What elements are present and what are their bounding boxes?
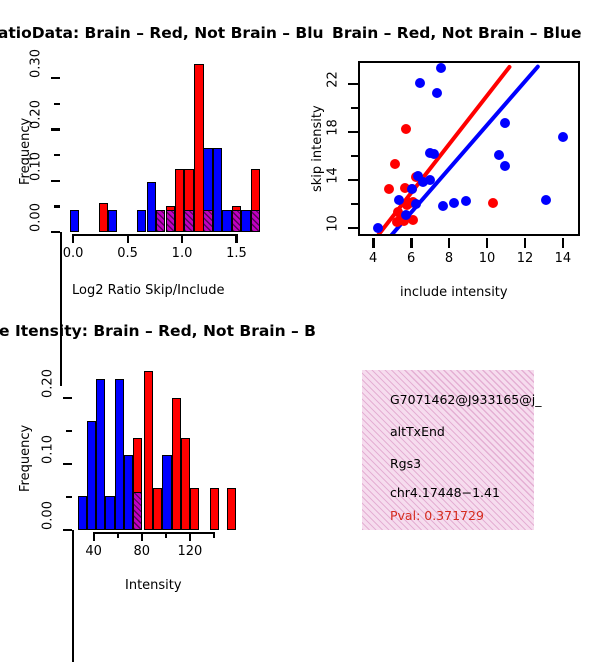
histogram-bar bbox=[241, 210, 251, 232]
y-axis-tick-label: 0.20 bbox=[41, 363, 56, 403]
scatter-point bbox=[384, 184, 394, 194]
y-axis-tick bbox=[351, 107, 358, 109]
y-axis-tick-label: 0.30 bbox=[29, 43, 44, 83]
x-axis-tick bbox=[213, 532, 215, 538]
histogram-bar bbox=[124, 455, 133, 530]
y-axis-tick bbox=[66, 430, 72, 432]
histogram-bar bbox=[203, 210, 213, 232]
scatter-point bbox=[394, 195, 404, 205]
ratio-histogram-plot-area bbox=[60, 60, 267, 232]
y-axis-tick bbox=[54, 103, 60, 105]
scatter-point bbox=[373, 223, 383, 233]
gene-info-box: G7071462@J933165@j_ altTxEnd Rgs3 chr4.1… bbox=[362, 370, 534, 530]
x-axis-line bbox=[73, 234, 236, 236]
scatter-point bbox=[415, 78, 425, 88]
scatter-point bbox=[500, 118, 510, 128]
histogram-bar bbox=[137, 210, 147, 232]
histogram-bar bbox=[172, 398, 181, 530]
x-axis-tick-label: 0.0 bbox=[48, 246, 98, 261]
scatter-plot-frame bbox=[358, 61, 580, 236]
gene-histogram-xlabel: Intensity bbox=[125, 578, 182, 593]
histogram-bar bbox=[156, 210, 166, 232]
scatter-point bbox=[407, 184, 417, 194]
histogram-bar bbox=[232, 210, 242, 232]
y-axis-tick-label: 0.00 bbox=[41, 496, 56, 536]
histogram-bar bbox=[133, 492, 142, 530]
histogram-bar bbox=[222, 210, 232, 232]
x-axis-tick bbox=[127, 234, 129, 243]
y-axis-tick bbox=[348, 83, 358, 85]
y-axis-tick bbox=[66, 496, 72, 498]
x-axis-tick bbox=[93, 532, 95, 541]
scatter-point bbox=[401, 210, 411, 220]
scatter-point bbox=[390, 159, 400, 169]
histogram-bar bbox=[70, 210, 80, 232]
histogram-bar bbox=[175, 169, 185, 232]
histogram-bar bbox=[190, 488, 199, 530]
y-axis-tick bbox=[51, 77, 60, 79]
info-line-event: altTxEnd bbox=[390, 424, 445, 439]
y-axis-tick-label: 0.10 bbox=[41, 429, 56, 469]
scatter-point bbox=[436, 63, 446, 73]
y-axis-tick-label: 10 bbox=[326, 208, 341, 238]
x-axis-tick bbox=[562, 238, 564, 248]
info-line-pval: Pval: 0.371729 bbox=[390, 508, 484, 523]
ratio-histogram-xlabel: Log2 Ratio Skip/Include bbox=[72, 283, 224, 298]
histogram-bar bbox=[105, 496, 114, 530]
x-axis-tick bbox=[141, 532, 143, 541]
scatter-ylabel: skip intensity bbox=[310, 105, 325, 192]
histogram-bar bbox=[181, 438, 190, 530]
y-axis-tick bbox=[351, 155, 358, 157]
scatter-point bbox=[401, 124, 411, 134]
y-axis-tick bbox=[63, 463, 72, 465]
x-axis-tick bbox=[117, 532, 119, 538]
scatter-point bbox=[449, 198, 459, 208]
info-line-gene: Rgs3 bbox=[390, 456, 421, 471]
x-axis-tick bbox=[486, 238, 488, 248]
scatter-point bbox=[500, 161, 510, 171]
histogram-bar bbox=[115, 379, 124, 530]
histogram-bar bbox=[166, 210, 176, 232]
scatter-point bbox=[429, 149, 439, 159]
x-axis-tick bbox=[372, 238, 374, 248]
scatter-point bbox=[488, 198, 498, 208]
x-axis-tick bbox=[181, 234, 183, 243]
histogram-bar bbox=[87, 421, 96, 530]
gene-histogram-title: ne Itensity: Brain – Red, Not Brain – B bbox=[0, 322, 316, 340]
scatter-point bbox=[494, 150, 504, 160]
histogram-bar bbox=[194, 64, 204, 232]
histogram-bar bbox=[78, 496, 87, 530]
y-axis-tick-label: 0.10 bbox=[29, 146, 44, 186]
x-axis-tick bbox=[165, 532, 167, 538]
info-line-locus: chr4.17448−1.41 bbox=[390, 485, 500, 500]
y-axis-tick bbox=[63, 397, 72, 399]
histogram-bar bbox=[144, 371, 153, 530]
histogram-bar bbox=[210, 488, 219, 530]
histogram-bar bbox=[153, 488, 162, 530]
gene-histogram-ylabel: Frequency bbox=[18, 425, 33, 492]
y-axis-tick-label: 22 bbox=[326, 64, 341, 94]
histogram-bar bbox=[108, 210, 118, 232]
y-axis-tick-label: 14 bbox=[326, 160, 341, 190]
y-axis-tick-label: 0.20 bbox=[29, 95, 44, 135]
histogram-bar bbox=[227, 488, 236, 530]
x-axis-line bbox=[94, 532, 214, 534]
y-axis-tick bbox=[348, 131, 358, 133]
scatter-point bbox=[411, 199, 421, 209]
histogram-bar bbox=[147, 182, 157, 232]
x-axis-tick-label: 1.5 bbox=[211, 246, 261, 261]
x-axis-tick bbox=[524, 238, 526, 248]
scatter-xlabel: include intensity bbox=[400, 285, 508, 300]
y-axis-tick-label: 18 bbox=[326, 112, 341, 142]
y-axis-tick bbox=[54, 154, 60, 156]
y-axis-tick bbox=[63, 529, 72, 531]
y-axis-tick bbox=[351, 203, 358, 205]
histogram-bar bbox=[99, 203, 109, 232]
scatter-point bbox=[432, 88, 442, 98]
histogram-bar bbox=[213, 148, 223, 232]
scatter-title: Brain – Red, Not Brain – Blue bbox=[332, 24, 582, 42]
x-axis-tick bbox=[235, 234, 237, 243]
ratio-histogram-title: RatioData: Brain – Red, Not Brain – Blu bbox=[0, 24, 324, 42]
scatter-point bbox=[425, 175, 435, 185]
info-line-id: G7071462@J933165@j_ bbox=[390, 392, 541, 407]
scatter-point bbox=[438, 201, 448, 211]
x-axis-tick bbox=[410, 238, 412, 248]
y-axis-tick bbox=[348, 179, 358, 181]
histogram-bar bbox=[184, 210, 194, 232]
y-axis-tick bbox=[54, 205, 60, 207]
y-axis-tick bbox=[348, 227, 358, 229]
x-axis-tick bbox=[189, 532, 191, 541]
histogram-bar bbox=[251, 210, 261, 232]
x-axis-tick-label: 1.0 bbox=[157, 246, 207, 261]
scatter-points-layer bbox=[360, 63, 578, 234]
y-axis-tick-label: 0.00 bbox=[29, 198, 44, 238]
x-axis-tick-label: 14 bbox=[538, 251, 588, 266]
scatter-point bbox=[558, 132, 568, 142]
x-axis-tick bbox=[72, 234, 74, 243]
x-axis-tick bbox=[448, 238, 450, 248]
x-axis-tick-label: 40 bbox=[69, 544, 119, 559]
gene-histogram-plot-area bbox=[72, 368, 238, 530]
y-axis-tick bbox=[51, 128, 60, 130]
x-axis-tick-label: 0.5 bbox=[103, 246, 153, 261]
y-axis-tick bbox=[51, 180, 60, 182]
scatter-point bbox=[541, 195, 551, 205]
scatter-point bbox=[461, 196, 471, 206]
histogram-bar bbox=[96, 379, 105, 530]
x-axis-tick-label: 80 bbox=[117, 544, 167, 559]
histogram-bar bbox=[162, 455, 171, 530]
y-axis-tick bbox=[51, 231, 60, 233]
x-axis-tick-label: 120 bbox=[165, 544, 215, 559]
